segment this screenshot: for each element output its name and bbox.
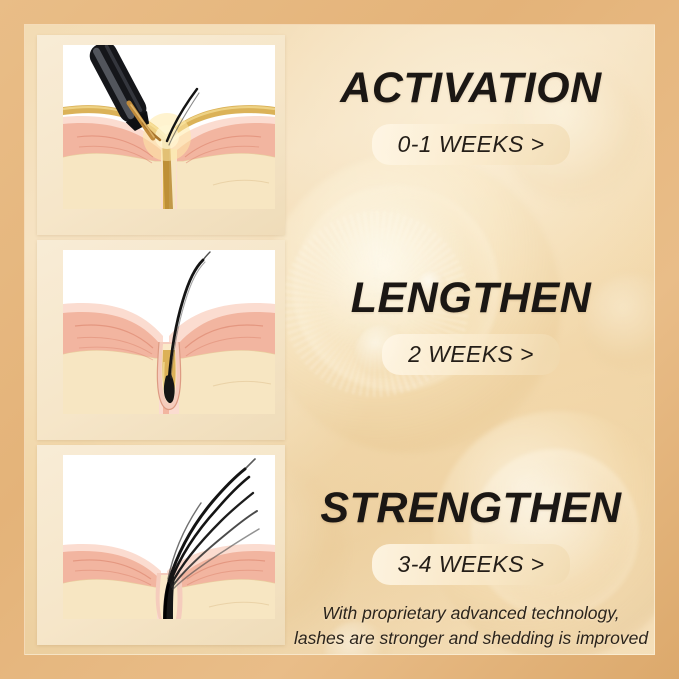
step-text-column: ACTIVATION 0-1 WEEKS > LENGTHEN 2 WEEKS … bbox=[287, 25, 655, 655]
step-lengthen: LENGTHEN 2 WEEKS > bbox=[287, 277, 655, 375]
panel-artwork-activation bbox=[63, 45, 275, 209]
step-title-lengthen: LENGTHEN bbox=[287, 277, 655, 320]
step-activation: ACTIVATION 0-1 WEEKS > bbox=[287, 67, 655, 165]
follicle-serum-application-icon bbox=[63, 45, 275, 209]
illustration-panel-strengthen bbox=[37, 445, 285, 645]
illustration-panel-column bbox=[25, 25, 285, 655]
tagline: With proprietary advanced technology, la… bbox=[285, 601, 655, 652]
step-title-activation: ACTIVATION bbox=[287, 67, 655, 110]
step-badge-strengthen[interactable]: 3-4 WEEKS > bbox=[372, 544, 571, 585]
single-lash-follicle-icon bbox=[63, 250, 275, 414]
serum-background-plate: ACTIVATION 0-1 WEEKS > LENGTHEN 2 WEEKS … bbox=[25, 25, 655, 655]
multiple-lashes-follicle-icon bbox=[63, 455, 275, 619]
tagline-line-1: With proprietary advanced technology, bbox=[285, 601, 655, 626]
tagline-line-2: lashes are stronger and shedding is impr… bbox=[285, 626, 655, 651]
step-badge-lengthen[interactable]: 2 WEEKS > bbox=[382, 334, 560, 375]
panel-artwork-strengthen bbox=[63, 455, 275, 619]
step-strengthen: STRENGTHEN 3-4 WEEKS > bbox=[287, 487, 655, 585]
step-badge-activation[interactable]: 0-1 WEEKS > bbox=[372, 124, 571, 165]
panel-artwork-lengthen bbox=[63, 250, 275, 414]
step-title-strengthen: STRENGTHEN bbox=[287, 487, 655, 530]
lash-serum-infographic: ACTIVATION 0-1 WEEKS > LENGTHEN 2 WEEKS … bbox=[0, 0, 679, 679]
illustration-panel-activation bbox=[37, 35, 285, 235]
illustration-panel-lengthen bbox=[37, 240, 285, 440]
